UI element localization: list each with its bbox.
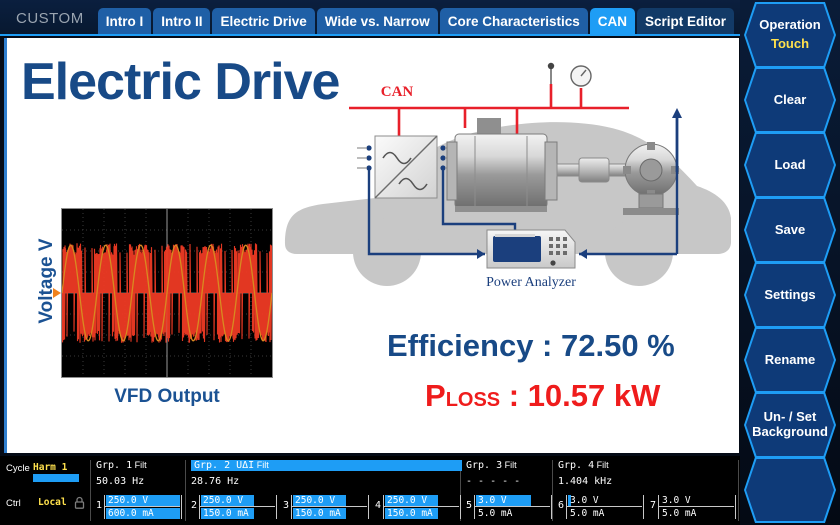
tab-can[interactable]: CAN xyxy=(590,8,635,36)
group-name: Grp. 4 xyxy=(558,460,594,471)
channel-bracket-right xyxy=(735,495,736,519)
channel-midline xyxy=(199,506,275,507)
channel-voltage-row: 250.0 V xyxy=(106,495,180,506)
sidebar-button-load[interactable]: Load xyxy=(746,134,834,196)
current-value: 600.0 mA xyxy=(108,508,154,519)
tab-underline xyxy=(0,34,740,36)
channel-bracket-right xyxy=(551,495,552,519)
channel-number: 1 xyxy=(96,500,102,511)
group-header-2[interactable]: Grp. 2 UΔI Filt xyxy=(191,460,462,471)
channel-bracket-right xyxy=(643,495,644,519)
group-frequency-1: 50.03 Hz xyxy=(96,476,144,487)
can-bus-label: CAN xyxy=(381,84,414,100)
current-value: 150.0 mA xyxy=(203,508,249,519)
channel-3[interactable]: 3250.0 V150.0 mA xyxy=(283,494,369,520)
sidebar-button-settings[interactable]: Settings xyxy=(746,264,834,326)
sidebar-button-label: Rename xyxy=(765,353,816,368)
sidebar-button-empty[interactable] xyxy=(746,459,834,521)
main-canvas: Electric Drive Voltage V VFD Output xyxy=(4,38,739,453)
channel-midline xyxy=(291,506,367,507)
voltage-value: 3.0 V xyxy=(662,495,691,506)
channel-body: 3.0 V5.0 mA xyxy=(658,494,736,520)
tab-intro-ii[interactable]: Intro II xyxy=(153,8,210,36)
channel-midline xyxy=(566,506,642,507)
channel-midline xyxy=(383,506,459,507)
channel-voltage-row: 3.0 V xyxy=(568,495,642,506)
channel-body: 250.0 V150.0 mA xyxy=(291,494,369,520)
channel-current-row: 5.0 mA xyxy=(568,508,642,519)
trigger-marker-icon xyxy=(53,288,61,298)
channel-6[interactable]: 63.0 V5.0 mA xyxy=(558,494,644,520)
channel-4[interactable]: 4250.0 V150.0 mA xyxy=(375,494,461,520)
channel-5[interactable]: 53.0 V5.0 mA xyxy=(466,494,552,520)
group-frequency-4: 1.404 kHz xyxy=(558,476,612,487)
lock-icon xyxy=(74,496,85,509)
channel-1[interactable]: 1250.0 V600.0 mA xyxy=(96,494,182,520)
channel-current-row: 5.0 mA xyxy=(476,508,550,519)
channel-midline xyxy=(658,506,734,507)
group-header-3[interactable]: Grp. 3 Filt xyxy=(466,460,552,471)
voltage-value: 250.0 V xyxy=(387,495,427,506)
group-header-4[interactable]: Grp. 4 Filt xyxy=(558,460,738,471)
channel-bracket-left xyxy=(474,495,475,519)
channel-voltage-row: 3.0 V xyxy=(660,495,734,506)
cycle-bar xyxy=(33,474,79,482)
channel-bracket-left xyxy=(104,495,105,519)
channel-number: 7 xyxy=(650,500,656,511)
voltage-value: 250.0 V xyxy=(108,495,148,506)
channel-current-row: 150.0 mA xyxy=(201,508,275,519)
group-name: Grp. 1 xyxy=(96,460,132,471)
sidebar-button-rename[interactable]: Rename xyxy=(746,329,834,391)
voltage-value: 3.0 V xyxy=(570,495,599,506)
channel-bracket-right xyxy=(181,495,182,519)
tab-intro-i[interactable]: Intro I xyxy=(98,8,152,36)
channel-midline xyxy=(474,506,550,507)
cycle-value[interactable]: Harm 1 xyxy=(33,462,67,473)
current-value: 5.0 mA xyxy=(478,508,512,519)
channel-voltage-row: 250.0 V xyxy=(293,495,367,506)
sensor-icons xyxy=(548,63,591,86)
tab-script-editor[interactable]: Script Editor xyxy=(637,8,734,36)
voltage-value: 250.0 V xyxy=(295,495,335,506)
power-analyzer-label: Power Analyzer xyxy=(486,275,576,290)
current-value: 150.0 mA xyxy=(295,508,341,519)
tab-core-characteristics[interactable]: Core Characteristics xyxy=(440,8,588,36)
group-filter: Filt xyxy=(254,460,269,470)
sidebar-button-operation[interactable]: OperationTouch xyxy=(746,4,834,66)
tab-wide-vs-narrow[interactable]: Wide vs. Narrow xyxy=(317,8,438,36)
channel-number: 3 xyxy=(283,500,289,511)
channel-voltage-row: 250.0 V xyxy=(201,495,275,506)
channel-number: 4 xyxy=(375,500,381,511)
channel-body: 3.0 V5.0 mA xyxy=(474,494,552,520)
voltage-value: 250.0 V xyxy=(203,495,243,506)
ploss-prefix: P xyxy=(425,378,446,413)
ctrl-value[interactable]: Local xyxy=(38,497,67,508)
sidebar-button-save[interactable]: Save xyxy=(746,199,834,261)
power-loss-readout: PLOSS : 10.57 kW xyxy=(425,378,660,414)
ploss-value: : 10.57 kW xyxy=(500,378,660,413)
current-value: 5.0 mA xyxy=(570,508,604,519)
channel-body: 250.0 V150.0 mA xyxy=(383,494,461,520)
channel-7[interactable]: 73.0 V5.0 mA xyxy=(650,494,736,520)
sidebar-button-sublabel: Touch xyxy=(771,37,809,52)
voltage-value: 3.0 V xyxy=(478,495,507,506)
channel-current-row: 150.0 mA xyxy=(293,508,367,519)
sidebar-button-label: Clear xyxy=(774,93,807,108)
scope-panel: Voltage V VFD Output xyxy=(25,208,275,438)
group-name: Grp. 2 UΔI xyxy=(194,460,254,471)
group-filter: Filt xyxy=(594,460,609,470)
channel-body: 250.0 V600.0 mA xyxy=(104,494,182,520)
sidebar-button-label: Load xyxy=(774,158,805,173)
channel-bracket-left xyxy=(658,495,659,519)
sidebar-button-label: Settings xyxy=(764,288,815,303)
current-value: 150.0 mA xyxy=(387,508,433,519)
waveform-display[interactable] xyxy=(61,208,273,378)
tab-electric-drive[interactable]: Electric Drive xyxy=(212,8,314,36)
channel-midline xyxy=(104,506,180,507)
channel-body: 250.0 V150.0 mA xyxy=(199,494,277,520)
channel-bracket-left xyxy=(383,495,384,519)
channel-voltage-row: 3.0 V xyxy=(476,495,550,506)
channel-bracket-left xyxy=(291,495,292,519)
channel-number: 2 xyxy=(191,500,197,511)
application-window: CUSTOM Intro IIntro IIElectric DriveWide… xyxy=(0,0,840,525)
status-bar: Cycle Harm 1 Ctrl Local Grp. 1 Filt50.03… xyxy=(0,456,740,525)
group-filter: Filt xyxy=(502,460,517,470)
custom-label: CUSTOM xyxy=(8,10,98,36)
channel-number: 5 xyxy=(466,500,472,511)
scope-y-axis-label: Voltage V xyxy=(36,211,58,351)
efficiency-readout: Efficiency : 72.50 % xyxy=(387,328,675,364)
sidebar-button-label: Save xyxy=(775,223,805,238)
channel-body: 3.0 V5.0 mA xyxy=(566,494,644,520)
channel-bracket-right xyxy=(460,495,461,519)
channel-bracket-right xyxy=(368,495,369,519)
channel-bracket-right xyxy=(276,495,277,519)
group-frequency-2: 28.76 Hz xyxy=(191,476,239,487)
group-frequency-3: - - - - - xyxy=(466,476,520,487)
ploss-subscript: LOSS xyxy=(446,389,500,411)
cycle-label: Cycle xyxy=(6,463,30,474)
channel-current-row: 600.0 mA xyxy=(106,508,180,519)
tab-bar: CUSTOM Intro IIntro IIElectric DriveWide… xyxy=(0,0,740,36)
channel-bracket-left xyxy=(566,495,567,519)
channel-bracket-left xyxy=(199,495,200,519)
sidebar-button-un-set-background[interactable]: Un- / SetBackground xyxy=(746,394,834,456)
vehicle-diagram: CAN xyxy=(279,46,737,308)
channel-current-row: 5.0 mA xyxy=(660,508,734,519)
sidebar-button-label: Un- / Set xyxy=(764,410,817,425)
current-value: 5.0 mA xyxy=(662,508,696,519)
sidebar: OperationTouchClearLoadSaveSettingsRenam… xyxy=(740,0,840,525)
sidebar-button-clear[interactable]: Clear xyxy=(746,69,834,131)
channel-2[interactable]: 2250.0 V150.0 mA xyxy=(191,494,277,520)
channel-current-row: 150.0 mA xyxy=(385,508,459,519)
channel-voltage-row: 250.0 V xyxy=(385,495,459,506)
ctrl-label: Ctrl xyxy=(6,498,21,509)
status-cycle-ctrl: Cycle Harm 1 Ctrl Local xyxy=(0,456,90,525)
group-header-1[interactable]: Grp. 1 Filt xyxy=(96,460,182,471)
channel-number: 6 xyxy=(558,500,564,511)
sidebar-button-label: Operation xyxy=(759,18,820,33)
sidebar-button-label: Background xyxy=(752,425,828,440)
scope-caption: VFD Output xyxy=(61,386,273,408)
group-filter: Filt xyxy=(132,460,147,470)
group-name: Grp. 3 xyxy=(466,460,502,471)
power-analyzer xyxy=(487,230,575,268)
